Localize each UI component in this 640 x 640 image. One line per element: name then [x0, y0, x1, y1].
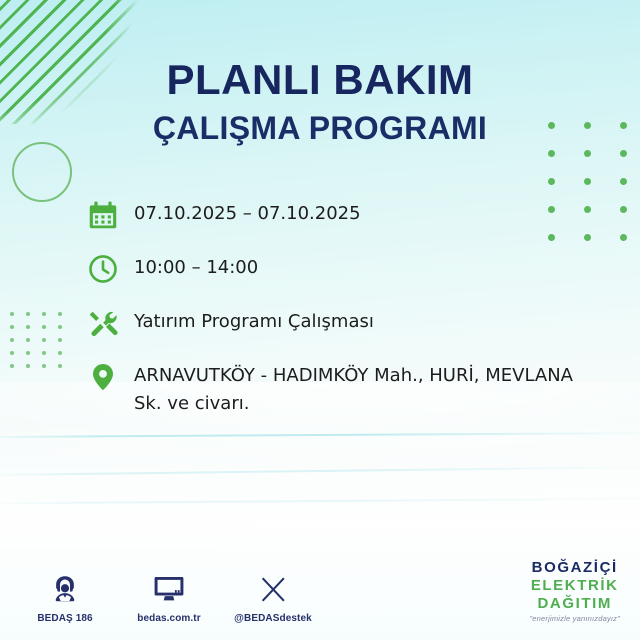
- date-range-text: 07.10.2025 – 07.10.2025: [134, 198, 361, 228]
- work-type-text: Yatırım Programı Çalışması: [134, 306, 374, 336]
- location-text: ARNAVUTKÖY - HADIMKÖY Mah., HURİ, MEVLAN…: [134, 360, 604, 418]
- brand-line-dagitim: DAĞITIM: [529, 596, 620, 611]
- info-list: 07.10.2025 – 07.10.2025 10:00 – 14:00: [86, 198, 610, 418]
- footer-contacts: BEDAŞ 186 bedas.com.tr @BEDASdestek: [26, 572, 312, 624]
- contact-phone[interactable]: BEDAŞ 186: [26, 572, 104, 624]
- monitor-icon: [130, 572, 208, 606]
- info-row-worktype: Yatırım Programı Çalışması: [86, 306, 610, 340]
- contact-twitter-label: @BEDASdestek: [234, 613, 312, 624]
- circle-outline-decoration: [12, 142, 72, 202]
- contact-phone-label: BEDAŞ 186: [26, 613, 104, 624]
- contact-website-label: bedas.com.tr: [130, 613, 208, 624]
- poster-canvas: PLANLI BAKIM ÇALIŞMA PROGRAMI 07.10.2025…: [0, 0, 640, 640]
- calendar-icon: [86, 198, 120, 232]
- support-agent-icon: [26, 572, 104, 606]
- brand-logo: BOĞAZİÇİ ELEKTRİK DAĞITIM "enerjimizle y…: [529, 560, 620, 623]
- poster-header: PLANLI BAKIM ÇALIŞMA PROGRAMI: [0, 56, 640, 148]
- clock-icon: [86, 252, 120, 286]
- contact-twitter[interactable]: @BEDASdestek: [234, 572, 312, 624]
- tools-icon: [86, 306, 120, 340]
- info-row-date: 07.10.2025 – 07.10.2025: [86, 198, 610, 232]
- dot-grid-left: [10, 312, 74, 377]
- info-row-location: ARNAVUTKÖY - HADIMKÖY Mah., HURİ, MEVLAN…: [86, 360, 610, 418]
- x-twitter-icon: [234, 572, 312, 606]
- page-subtitle: ÇALIŞMA PROGRAMI: [0, 108, 640, 148]
- brand-tagline: "enerjimizle yanınızdayız": [529, 615, 620, 623]
- brand-line-elektrik: ELEKTRİK: [529, 578, 620, 593]
- location-pin-icon: [86, 360, 120, 394]
- time-range-text: 10:00 – 14:00: [134, 252, 258, 282]
- info-row-time: 10:00 – 14:00: [86, 252, 610, 286]
- brand-line-bogazici: BOĞAZİÇİ: [529, 560, 620, 575]
- page-title: PLANLI BAKIM: [0, 56, 640, 104]
- contact-website[interactable]: bedas.com.tr: [130, 572, 208, 624]
